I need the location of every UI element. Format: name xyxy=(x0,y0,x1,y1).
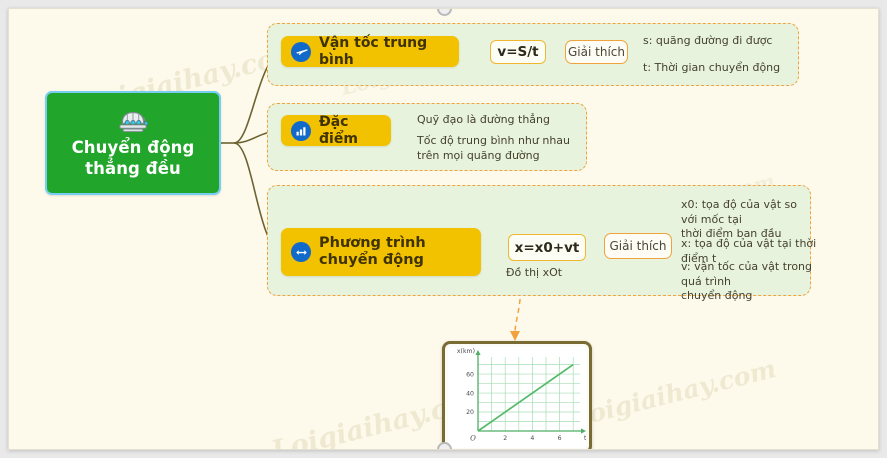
root-node[interactable]: Chuyển độngthẳng đều xyxy=(45,91,221,195)
topic-label: Đặc điểm xyxy=(319,114,378,148)
explain-chip-velocity[interactable]: Giải thích xyxy=(565,40,628,64)
leaf-item: x0: tọa độ của vật so với mốc tại thời đ… xyxy=(681,198,813,242)
screenshot-root: Loigiaihay.com Loigiaihay.com Loigiaihay… xyxy=(0,0,887,458)
formula-velocity: v=S/t xyxy=(490,40,546,64)
svg-text:t(h): t(h) xyxy=(584,435,586,442)
svg-text:O: O xyxy=(470,435,476,443)
svg-text:x(km): x(km) xyxy=(457,348,475,355)
topic-label: Vận tốc trung bình xyxy=(319,35,446,69)
leaf-item: Quỹ đạo là đường thẳng xyxy=(417,113,587,128)
svg-text:20: 20 xyxy=(466,409,474,416)
left-right-arrow-icon xyxy=(291,242,311,262)
topic-node-equation[interactable]: Phương trình chuyển động xyxy=(281,228,481,276)
leaf-item: v: vận tốc của vật trong quá trình chuyể… xyxy=(681,260,817,304)
explain-chip-equation[interactable]: Giải thích xyxy=(604,233,672,259)
airplane-icon xyxy=(291,42,311,62)
topic-node-velocity[interactable]: Vận tốc trung bình xyxy=(281,36,459,67)
root-node-label: Chuyển độngthẳng đều xyxy=(72,138,195,179)
xOt-line-chart: 204060246Ox(km)t(h) xyxy=(448,347,586,448)
root-line-2: thẳng đều xyxy=(85,159,181,178)
leaf-item: t: Thời gian chuyển động xyxy=(643,61,808,76)
svg-text:6: 6 xyxy=(558,435,562,442)
topic-label: Phương trình chuyển động xyxy=(319,235,468,270)
leaf-item: Tốc độ trung bình như nhau trên mọi quãn… xyxy=(417,134,589,163)
graph-card[interactable]: 204060246Ox(km)t(h) xyxy=(442,341,592,450)
root-line-1: Chuyển động xyxy=(72,138,195,157)
bottom-resize-handle[interactable] xyxy=(437,442,452,450)
leaf-item: s: quãng đường đi được xyxy=(643,34,803,49)
svg-text:4: 4 xyxy=(530,435,534,442)
graph-label: Đồ thị xOt xyxy=(506,266,626,281)
svg-text:60: 60 xyxy=(466,371,474,378)
topic-node-characteristics[interactable]: Đặc điểm xyxy=(281,115,391,146)
svg-text:2: 2 xyxy=(503,435,507,442)
bar-chart-icon xyxy=(291,121,311,141)
svg-text:40: 40 xyxy=(466,390,474,397)
newtons-cradle-icon xyxy=(116,106,150,134)
mindmap-canvas[interactable]: Loigiaihay.com Loigiaihay.com Loigiaihay… xyxy=(8,8,879,450)
formula-equation: x=x0+vt xyxy=(508,234,586,261)
